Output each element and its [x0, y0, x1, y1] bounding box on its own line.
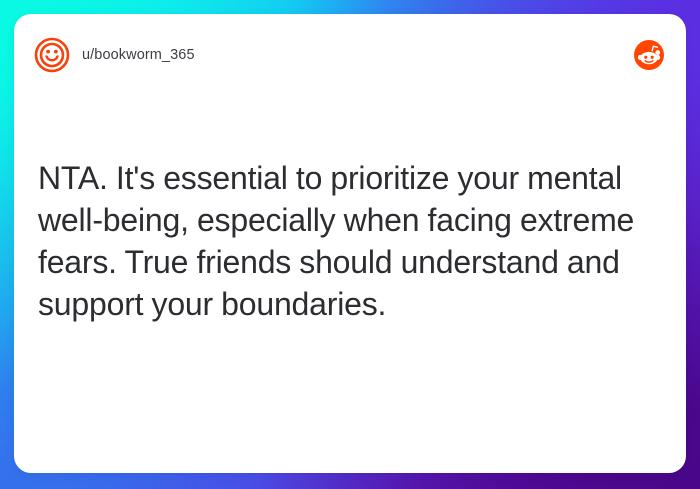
screenshot-canvas: u/bookworm_365 NTA. It's essential to pr… — [0, 0, 700, 489]
smiley-face-icon — [34, 37, 70, 73]
card-header: u/bookworm_365 — [14, 14, 686, 96]
avatar[interactable] — [34, 37, 70, 73]
reddit-snoo-icon — [634, 40, 664, 70]
reddit-comment-card: u/bookworm_365 NTA. It's essential to pr… — [14, 14, 686, 473]
reddit-logo[interactable] — [634, 40, 664, 70]
post-text: NTA. It's essential to prioritize your m… — [38, 157, 662, 325]
username-label: u/bookworm_365 — [82, 47, 195, 63]
